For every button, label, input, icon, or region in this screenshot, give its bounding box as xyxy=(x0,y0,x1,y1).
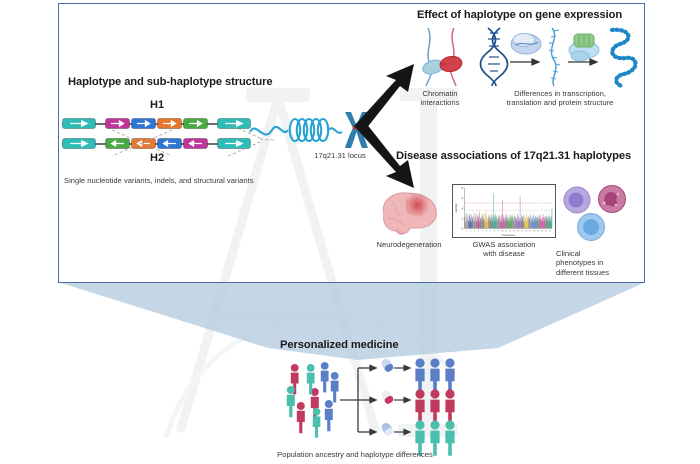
svg-text:3: 3 xyxy=(474,230,475,232)
pill-teal xyxy=(380,421,395,437)
svg-text:21: 21 xyxy=(545,230,547,232)
svg-text:9: 9 xyxy=(498,230,499,232)
expression-panel-title: Effect of haplotype on gene expression xyxy=(417,9,622,21)
svg-text:2: 2 xyxy=(462,217,464,220)
personalized-caption: Population ancestry and haplotype differ… xyxy=(230,450,480,459)
svg-text:11: 11 xyxy=(505,230,507,232)
chromatin-interactions-icon xyxy=(414,26,476,88)
svg-text:5: 5 xyxy=(482,230,483,232)
svg-text:12: 12 xyxy=(509,230,511,232)
svg-text:4: 4 xyxy=(478,230,479,232)
monocyte-icon xyxy=(578,214,605,241)
central-dogma-icons xyxy=(484,26,639,88)
svg-text:0: 0 xyxy=(462,227,464,230)
branch-arrows xyxy=(352,58,420,194)
svg-text:6: 6 xyxy=(462,197,464,200)
population-cluster xyxy=(287,362,339,438)
dogma-caption: Differences in transcription, translatio… xyxy=(477,89,643,108)
protein-chain-icon xyxy=(612,30,636,86)
rna-polymerase-icon xyxy=(511,34,541,55)
svg-text:4: 4 xyxy=(462,207,464,210)
svg-text:13: 13 xyxy=(513,230,515,232)
neurodegeneration-caption: Neurodegeneration xyxy=(366,240,452,249)
svg-text:8: 8 xyxy=(494,230,495,232)
svg-text:Chromosome: Chromosome xyxy=(501,234,516,237)
svg-text:16: 16 xyxy=(525,230,527,232)
haplotype-caption: Single nucleotide variants, indels, and … xyxy=(64,176,304,185)
svg-text:10: 10 xyxy=(501,230,503,232)
haplotype-panel-title: Haplotype and sub-haplotype structure xyxy=(68,76,273,88)
lymphocyte-icon xyxy=(564,187,590,213)
pill-crimson xyxy=(380,389,395,405)
recombination-dashes xyxy=(60,112,280,172)
svg-text:-log10(p): -log10(p) xyxy=(455,203,458,213)
cohort-crimson xyxy=(415,389,454,424)
svg-text:2: 2 xyxy=(470,230,471,232)
figure-canvas: Haplotype and sub-haplotype structure H1… xyxy=(0,0,700,464)
h1-label: H1 xyxy=(150,99,164,111)
brain-icon xyxy=(374,188,444,238)
tissue-cells-icons xyxy=(560,184,636,246)
svg-text:1: 1 xyxy=(466,230,467,232)
personalized-medicine-diagram xyxy=(284,358,464,442)
svg-text:14: 14 xyxy=(517,230,519,232)
mrna-strand-icon xyxy=(549,28,560,86)
svg-text:19: 19 xyxy=(537,230,539,232)
gwas-caption: GWAS association with disease xyxy=(452,240,556,259)
tissue-caption: Clinical phenotypes in different tissues xyxy=(556,249,636,277)
neutrophil-icon xyxy=(599,186,626,213)
personalized-panel-title: Personalized medicine xyxy=(280,339,399,351)
chromatin-caption: Chromatin interactions xyxy=(404,89,476,108)
svg-text:15: 15 xyxy=(521,230,523,232)
gwas-manhattan-plot: 02468-log10(p)12345678910111213141516171… xyxy=(452,184,556,238)
dna-helix-icon xyxy=(481,28,508,86)
svg-text:22: 22 xyxy=(549,230,551,232)
svg-text:18: 18 xyxy=(533,230,535,232)
pill-blue xyxy=(380,357,395,373)
svg-text:6: 6 xyxy=(486,230,487,232)
disease-panel-title: Disease associations of 17q21.31 haploty… xyxy=(396,150,631,162)
svg-text:20: 20 xyxy=(541,230,543,232)
svg-text:8: 8 xyxy=(462,187,464,190)
svg-text:7: 7 xyxy=(490,230,491,232)
svg-text:17: 17 xyxy=(529,230,531,232)
cohort-blue xyxy=(415,358,454,393)
ribosome-icon xyxy=(569,34,599,61)
